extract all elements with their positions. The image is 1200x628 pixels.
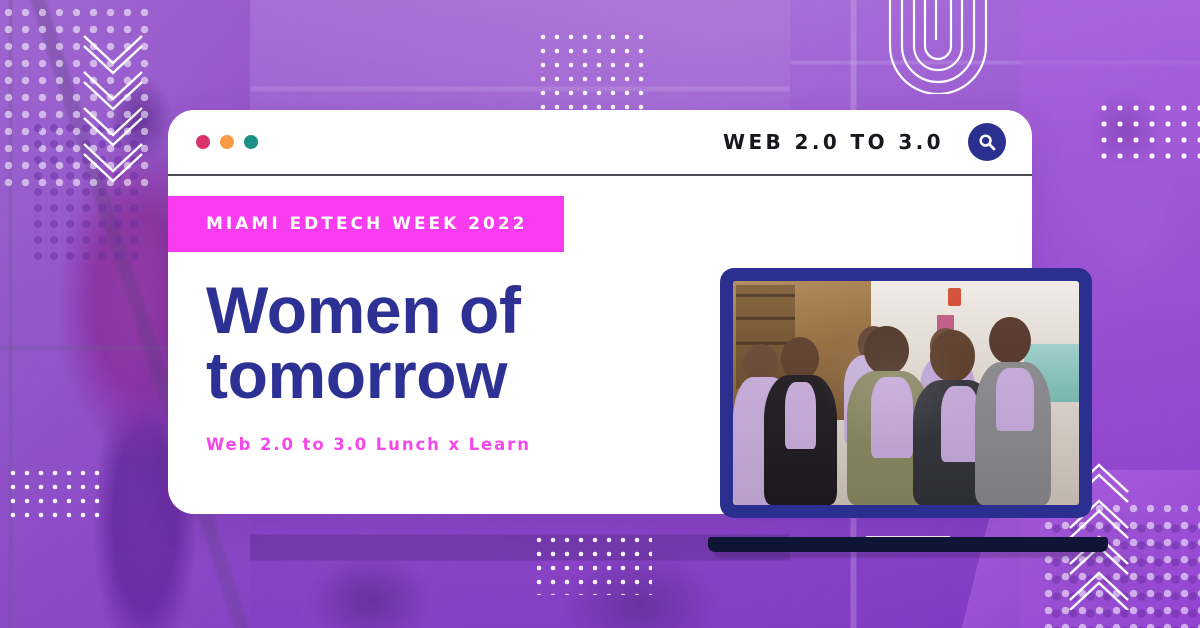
traffic-light-dots xyxy=(196,135,258,149)
students-photo: Group of smiling students in lavender po… xyxy=(733,281,1079,505)
photo-light-overlay xyxy=(733,281,1079,505)
laptop-shadow xyxy=(714,551,1106,558)
search-icon xyxy=(977,132,997,152)
browser-titlebar: WEB 2.0 TO 3.0 xyxy=(168,110,1032,174)
browser-title: WEB 2.0 TO 3.0 xyxy=(723,130,944,154)
poster-canvas: WEB 2.0 TO 3.0 MIAMI EDTECH WEEK 2022 Wo… xyxy=(0,0,1200,628)
close-dot[interactable] xyxy=(196,135,210,149)
concentric-u-arcs-svg xyxy=(868,0,1008,94)
laptop-screen: Group of smiling students in lavender po… xyxy=(733,281,1079,505)
laptop-lid: Group of smiling students in lavender po… xyxy=(720,268,1092,518)
chevrons-down-topleft xyxy=(78,32,148,187)
chevron-down-stack-svg xyxy=(78,32,148,182)
titlebar-right-group: WEB 2.0 TO 3.0 xyxy=(723,123,1006,161)
hero-subheadline: Web 2.0 to 3.0 Lunch x Learn xyxy=(206,435,688,454)
maximize-dot[interactable] xyxy=(244,135,258,149)
event-badge: MIAMI EDTECH WEEK 2022 xyxy=(168,196,564,252)
hero-text-column: MIAMI EDTECH WEEK 2022 Women oftomorrow … xyxy=(168,196,688,454)
laptop-base xyxy=(708,537,1108,552)
browser-window-card: WEB 2.0 TO 3.0 MIAMI EDTECH WEEK 2022 Wo… xyxy=(168,110,1032,514)
headline-line-1: Women of xyxy=(206,273,521,347)
search-button[interactable] xyxy=(968,123,1006,161)
page-title: Women oftomorrow xyxy=(206,278,586,409)
headline-line-2: tomorrow xyxy=(206,338,507,412)
minimize-dot[interactable] xyxy=(220,135,234,149)
concentric-u-arcs xyxy=(868,0,1008,94)
card-body: MIAMI EDTECH WEEK 2022 Women oftomorrow … xyxy=(168,176,1032,514)
laptop-mockup: Group of smiling students in lavender po… xyxy=(708,268,1108,558)
